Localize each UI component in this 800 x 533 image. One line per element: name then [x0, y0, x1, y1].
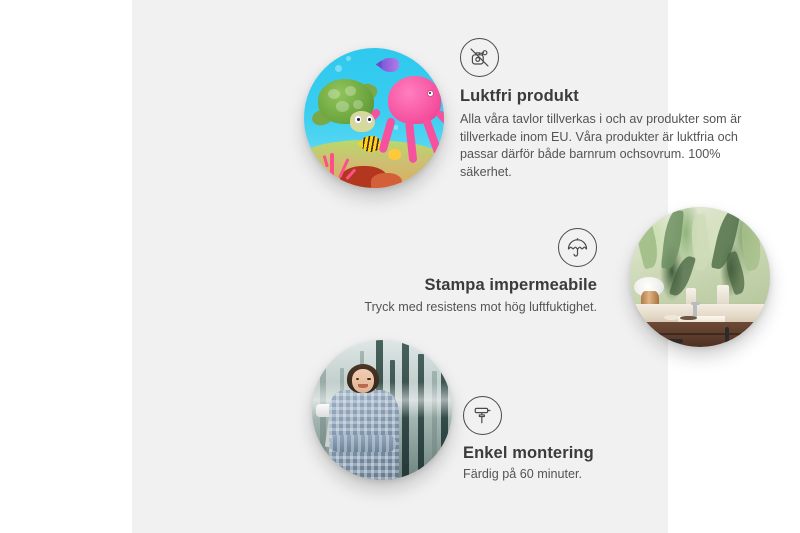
bubble-icon — [335, 65, 342, 72]
drawer-handle — [652, 339, 683, 343]
feature-title: Luktfri produkt — [460, 87, 765, 106]
octopus-eye — [428, 91, 433, 96]
person-arm — [330, 435, 396, 452]
person-eye — [367, 378, 370, 381]
cabinet-handle — [750, 327, 754, 345]
purple-fish — [380, 58, 400, 72]
octopus — [388, 76, 441, 124]
screenshot-canvas: Luktfri produkt Alla våra tavlor tillver… — [0, 0, 800, 533]
small-fish — [388, 149, 401, 160]
no-fragrance-icon — [460, 38, 499, 77]
coral — [312, 143, 354, 179]
feature-waterproof: Stampa impermeabile Tryck med resistens … — [362, 228, 597, 317]
wooden-vanity — [633, 322, 770, 347]
yellow-striped-fish — [361, 136, 379, 151]
bathroom-interior-photo[interactable] — [630, 207, 770, 347]
person-smile — [358, 384, 368, 388]
content-panel: Luktfri produkt Alla våra tavlor tillver… — [132, 0, 668, 533]
feature-title: Enkel montering — [463, 444, 693, 463]
underwater-cartoon-photo[interactable] — [304, 48, 444, 188]
cabinet-handle — [725, 327, 729, 345]
tree — [320, 357, 326, 480]
umbrella-icon — [558, 228, 597, 267]
feature-assembly: Enkel montering Färdig på 60 minuter. — [463, 396, 693, 484]
feature-title: Stampa impermeabile — [362, 276, 597, 295]
feature-description: Färdig på 60 minuter. — [463, 466, 693, 484]
turtle-eye — [354, 115, 362, 123]
paint-roller-icon — [463, 396, 502, 435]
icon-wrapper — [362, 228, 597, 267]
woman-painter-forest-photo[interactable] — [312, 340, 452, 480]
turtle-eye — [366, 115, 374, 123]
feature-description: Alla våra tavlor tillverkas i och av pro… — [460, 111, 765, 181]
feature-odourless: Luktfri produkt Alla våra tavlor tillver… — [460, 38, 765, 181]
feature-description: Tryck med resistens mot hög luftfuktighe… — [362, 299, 597, 317]
sea-rock — [371, 173, 402, 188]
